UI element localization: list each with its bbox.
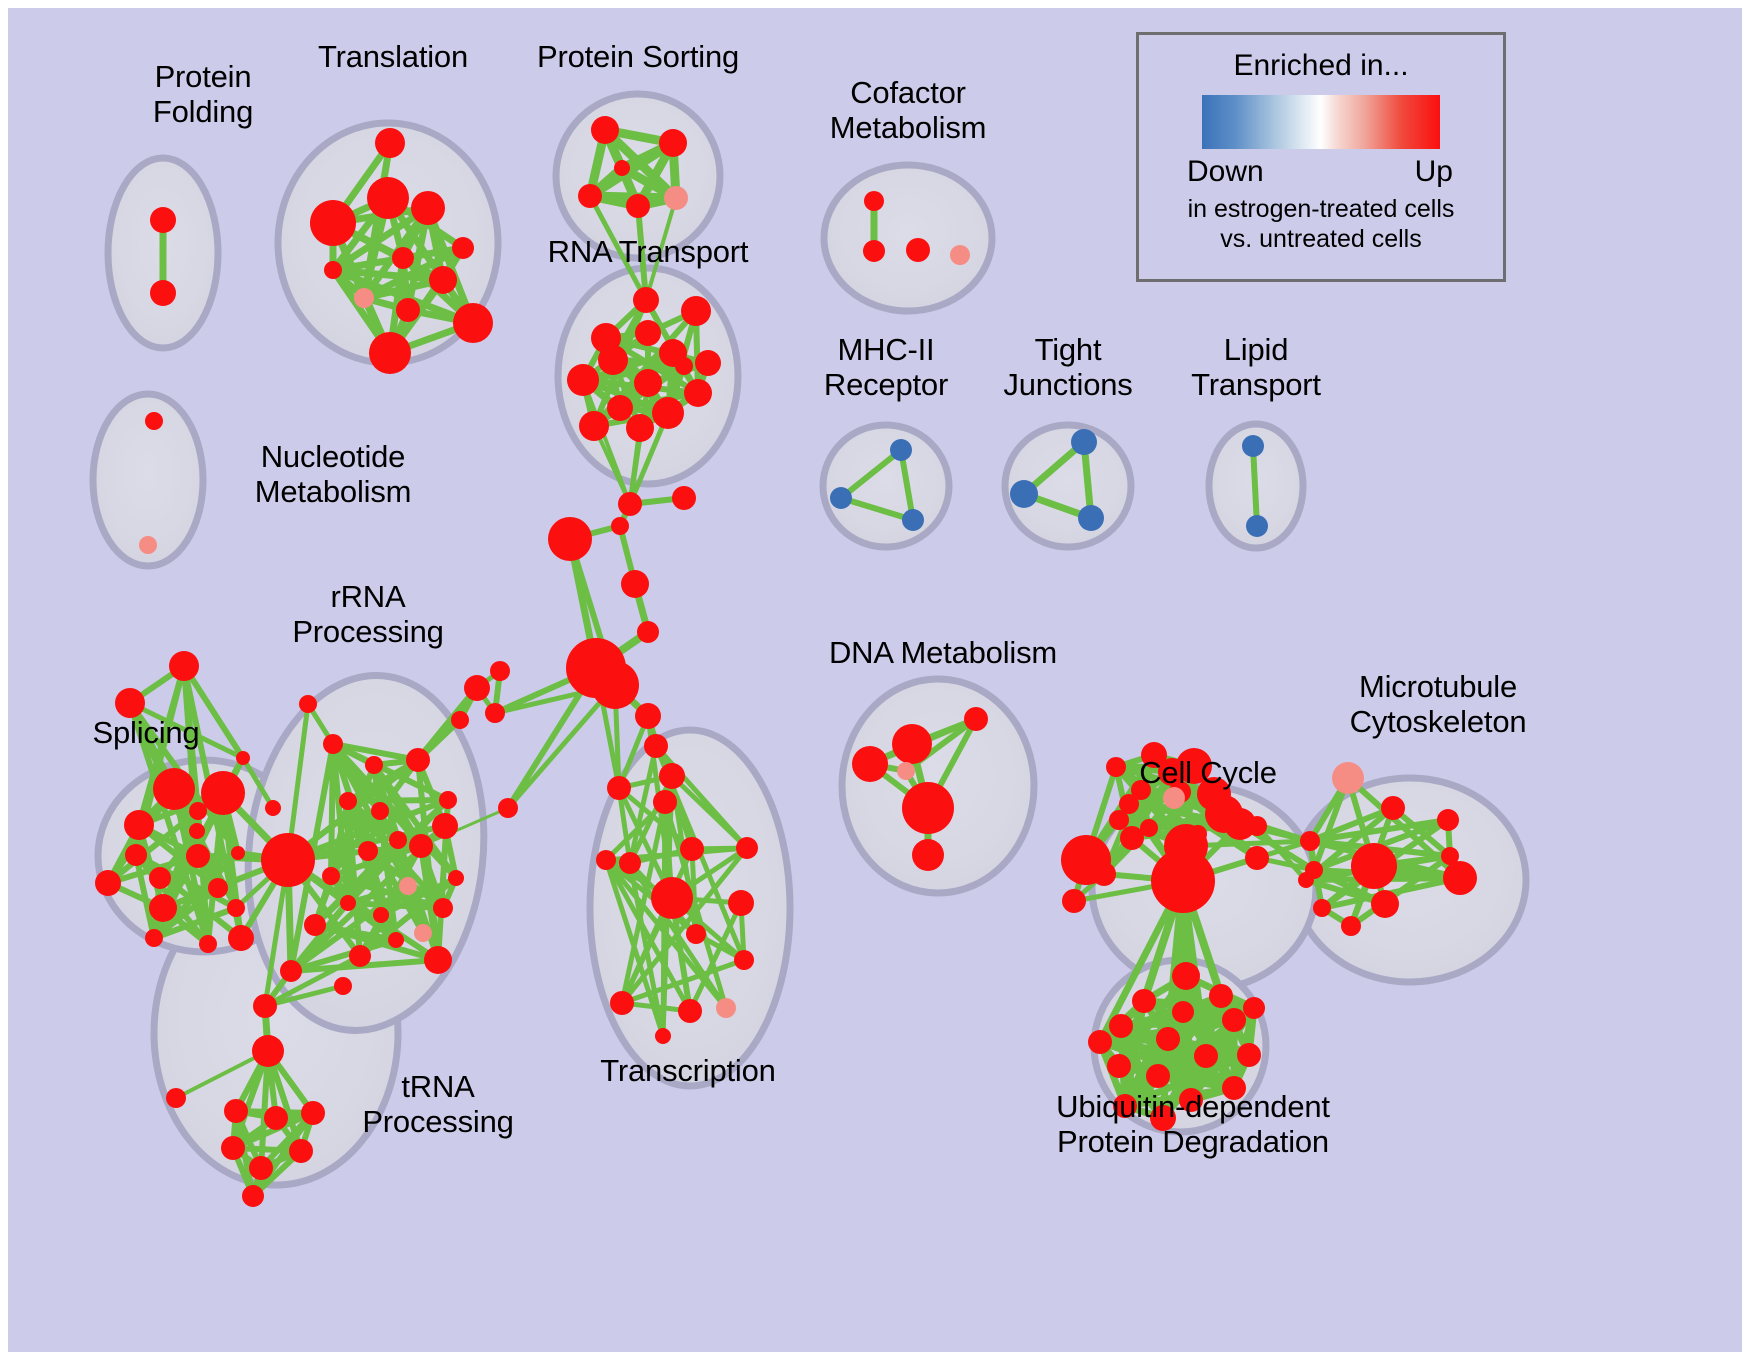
network-node[interactable] xyxy=(1242,435,1264,457)
network-node[interactable] xyxy=(1062,889,1086,913)
network-node[interactable] xyxy=(125,844,147,866)
network-node[interactable] xyxy=(1132,989,1156,1013)
network-node[interactable] xyxy=(150,280,176,306)
network-node[interactable] xyxy=(728,890,754,916)
network-node[interactable] xyxy=(1237,1043,1261,1067)
network-node[interactable] xyxy=(675,357,693,375)
network-node[interactable] xyxy=(227,899,245,917)
network-node[interactable] xyxy=(1332,762,1364,794)
network-node[interactable] xyxy=(228,925,254,951)
network-node[interactable] xyxy=(1341,916,1361,936)
network-node[interactable] xyxy=(1222,1008,1246,1032)
network-node[interactable] xyxy=(1109,810,1129,830)
network-node[interactable] xyxy=(95,870,121,896)
network-node[interactable] xyxy=(406,748,430,772)
network-node[interactable] xyxy=(1351,843,1397,889)
network-node[interactable] xyxy=(1088,1030,1112,1054)
network-node[interactable] xyxy=(1300,831,1320,851)
network-node[interactable] xyxy=(591,116,619,144)
network-node[interactable] xyxy=(579,411,609,441)
network-canvas: Protein Folding Translation Protein Sort… xyxy=(8,8,1742,1352)
network-node[interactable] xyxy=(1246,515,1268,537)
network-node[interactable] xyxy=(695,350,721,376)
network-node[interactable] xyxy=(614,160,630,176)
network-node[interactable] xyxy=(626,414,654,442)
legend-colorbar xyxy=(1202,95,1440,149)
network-node[interactable] xyxy=(912,839,944,871)
network-node[interactable] xyxy=(145,929,163,947)
network-node[interactable] xyxy=(1146,1064,1170,1088)
network-node[interactable] xyxy=(1092,862,1116,886)
network-node[interactable] xyxy=(1247,816,1267,836)
network-node[interactable] xyxy=(1443,861,1477,895)
network-node[interactable] xyxy=(655,1028,671,1044)
network-node[interactable] xyxy=(451,711,469,729)
network-node[interactable] xyxy=(1194,1044,1218,1068)
network-node[interactable] xyxy=(567,364,599,396)
network-node[interactable] xyxy=(964,707,988,731)
network-node[interactable] xyxy=(652,397,684,429)
network-node[interactable] xyxy=(598,345,628,375)
network-node[interactable] xyxy=(607,395,633,421)
network-node[interactable] xyxy=(1371,890,1399,918)
network-node[interactable] xyxy=(736,837,758,859)
network-node[interactable] xyxy=(153,768,195,810)
network-node[interactable] xyxy=(124,810,154,840)
network-node[interactable] xyxy=(452,237,474,259)
network-node[interactable] xyxy=(349,945,371,967)
network-node[interactable] xyxy=(1172,962,1200,990)
network-node[interactable] xyxy=(396,298,420,322)
network-node[interactable] xyxy=(339,792,357,810)
network-node[interactable] xyxy=(635,320,661,346)
network-node[interactable] xyxy=(367,177,409,219)
network-node[interactable] xyxy=(1109,1014,1133,1038)
network-node[interactable] xyxy=(680,837,704,861)
network-node[interactable] xyxy=(637,621,659,643)
network-node[interactable] xyxy=(644,734,668,758)
network-node[interactable] xyxy=(432,813,458,839)
network-node[interactable] xyxy=(1113,1094,1137,1118)
network-node[interactable] xyxy=(1172,1001,1194,1023)
network-node[interactable] xyxy=(610,991,634,1015)
network-node[interactable] xyxy=(621,570,649,598)
network-node[interactable] xyxy=(354,288,374,308)
network-node[interactable] xyxy=(424,946,452,974)
cluster-hull-mhc-ii-receptor xyxy=(823,425,949,547)
network-node[interactable] xyxy=(280,960,302,982)
network-node[interactable] xyxy=(373,907,389,923)
network-node[interactable] xyxy=(618,492,642,516)
network-node[interactable] xyxy=(149,894,177,922)
network-node[interactable] xyxy=(1222,1076,1246,1100)
network-node[interactable] xyxy=(253,994,277,1018)
network-node[interactable] xyxy=(596,850,616,870)
network-node[interactable] xyxy=(950,245,970,265)
network-node[interactable] xyxy=(231,846,245,860)
network-node[interactable] xyxy=(672,486,696,510)
network-node[interactable] xyxy=(864,191,884,211)
network-node[interactable] xyxy=(664,186,688,210)
network-node[interactable] xyxy=(1313,899,1331,917)
network-node[interactable] xyxy=(323,734,343,754)
network-node[interactable] xyxy=(1209,984,1233,1008)
network-node[interactable] xyxy=(166,1088,186,1108)
network-node[interactable] xyxy=(448,870,464,886)
network-node[interactable] xyxy=(139,536,157,554)
network-node[interactable] xyxy=(659,763,685,789)
network-node[interactable] xyxy=(265,800,281,816)
network-node[interactable] xyxy=(310,200,356,246)
network-node[interactable] xyxy=(389,831,407,849)
network-node[interactable] xyxy=(334,977,352,995)
legend-endpoints: Down Up xyxy=(1181,155,1461,193)
network-node[interactable] xyxy=(635,703,661,729)
network-node[interactable] xyxy=(249,1156,273,1180)
network-node[interactable] xyxy=(208,878,228,898)
network-node[interactable] xyxy=(1437,809,1459,831)
network-node[interactable] xyxy=(429,266,457,294)
network-node[interactable] xyxy=(897,762,915,780)
network-node[interactable] xyxy=(1071,429,1097,455)
network-node[interactable] xyxy=(1120,826,1144,850)
network-node[interactable] xyxy=(299,695,317,713)
network-node[interactable] xyxy=(716,998,736,1018)
network-node[interactable] xyxy=(115,688,145,718)
network-node[interactable] xyxy=(145,412,163,430)
network-node[interactable] xyxy=(892,724,932,764)
network-node[interactable] xyxy=(1156,1027,1180,1051)
network-node[interactable] xyxy=(375,128,405,158)
legend-title: Enriched in... xyxy=(1139,49,1503,83)
network-node[interactable] xyxy=(189,823,205,839)
network-node[interactable] xyxy=(371,802,389,820)
network-node[interactable] xyxy=(289,1139,313,1163)
network-node[interactable] xyxy=(264,1106,288,1130)
network-node[interactable] xyxy=(626,194,650,218)
network-node[interactable] xyxy=(433,898,453,918)
network-node[interactable] xyxy=(591,661,639,709)
network-node[interactable] xyxy=(1243,997,1265,1019)
network-node[interactable] xyxy=(464,675,490,701)
network-node[interactable] xyxy=(322,867,340,885)
network-node[interactable] xyxy=(399,877,417,895)
network-node[interactable] xyxy=(890,439,912,461)
network-node[interactable] xyxy=(369,332,411,374)
network-node[interactable] xyxy=(830,487,852,509)
network-node[interactable] xyxy=(261,833,315,887)
legend-box: Enriched in... Down Up in estrogen-treat… xyxy=(1136,32,1506,282)
network-node[interactable] xyxy=(1298,872,1314,888)
network-node[interactable] xyxy=(1150,1105,1176,1131)
network-node[interactable] xyxy=(252,1035,284,1067)
network-node[interactable] xyxy=(236,751,250,765)
network-node[interactable] xyxy=(1179,1088,1203,1112)
network-node[interactable] xyxy=(1381,796,1405,820)
network-node[interactable] xyxy=(392,247,414,269)
network-node[interactable] xyxy=(548,517,592,561)
network-node[interactable] xyxy=(1163,787,1185,809)
network-node[interactable] xyxy=(414,924,432,942)
network-node[interactable] xyxy=(490,661,510,681)
network-edge xyxy=(348,800,448,801)
network-node[interactable] xyxy=(611,517,629,535)
network-node[interactable] xyxy=(633,287,659,313)
network-node[interactable] xyxy=(453,303,493,343)
network-node[interactable] xyxy=(149,867,171,889)
network-node[interactable] xyxy=(651,877,693,919)
network-node[interactable] xyxy=(150,207,176,233)
network-node[interactable] xyxy=(411,191,445,225)
network-node[interactable] xyxy=(863,240,885,262)
network-node[interactable] xyxy=(607,776,631,800)
network-node[interactable] xyxy=(1176,748,1212,784)
network-node[interactable] xyxy=(304,914,326,936)
network-node[interactable] xyxy=(634,369,662,397)
network-node[interactable] xyxy=(686,924,706,944)
network-node[interactable] xyxy=(734,950,754,970)
network-node[interactable] xyxy=(906,238,930,262)
network-node[interactable] xyxy=(678,999,702,1023)
network-node[interactable] xyxy=(902,509,924,531)
network-edge xyxy=(1253,446,1257,526)
legend-caption: in estrogen-treated cells vs. untreated … xyxy=(1139,195,1503,254)
network-node[interactable] xyxy=(1245,846,1269,870)
network-node[interactable] xyxy=(340,895,356,911)
network-node[interactable] xyxy=(1078,505,1104,531)
legend-up-label: Up xyxy=(1415,155,1453,189)
network-node[interactable] xyxy=(578,184,602,208)
cluster-hull-cofactor-metabolism xyxy=(824,165,992,311)
network-node[interactable] xyxy=(1010,480,1038,508)
network-node[interactable] xyxy=(201,771,245,815)
network-node[interactable] xyxy=(199,935,217,953)
network-node[interactable] xyxy=(852,746,888,782)
network-node[interactable] xyxy=(1107,1054,1131,1078)
network-node[interactable] xyxy=(902,782,954,834)
network-node[interactable] xyxy=(365,756,383,774)
network-node[interactable] xyxy=(388,932,404,948)
network-node[interactable] xyxy=(189,802,207,820)
network-node[interactable] xyxy=(659,129,687,157)
network-node[interactable] xyxy=(324,261,342,279)
network-node[interactable] xyxy=(409,834,433,858)
network-node[interactable] xyxy=(242,1185,264,1207)
network-node[interactable] xyxy=(681,296,711,326)
network-node[interactable] xyxy=(221,1136,245,1160)
network-node[interactable] xyxy=(619,852,641,874)
network-node[interactable] xyxy=(439,791,457,809)
network-node[interactable] xyxy=(1151,849,1215,913)
network-node[interactable] xyxy=(485,703,505,723)
legend-down-label: Down xyxy=(1187,155,1264,189)
network-node[interactable] xyxy=(1106,757,1126,777)
network-node[interactable] xyxy=(358,841,378,861)
network-node[interactable] xyxy=(684,379,712,407)
network-node[interactable] xyxy=(186,844,210,868)
network-node[interactable] xyxy=(653,790,677,814)
network-edge xyxy=(508,685,615,808)
network-node[interactable] xyxy=(169,651,199,681)
figure-root: Protein Folding Translation Protein Sort… xyxy=(0,0,1750,1360)
network-node[interactable] xyxy=(301,1101,325,1125)
network-node[interactable] xyxy=(498,798,518,818)
network-node[interactable] xyxy=(224,1099,248,1123)
